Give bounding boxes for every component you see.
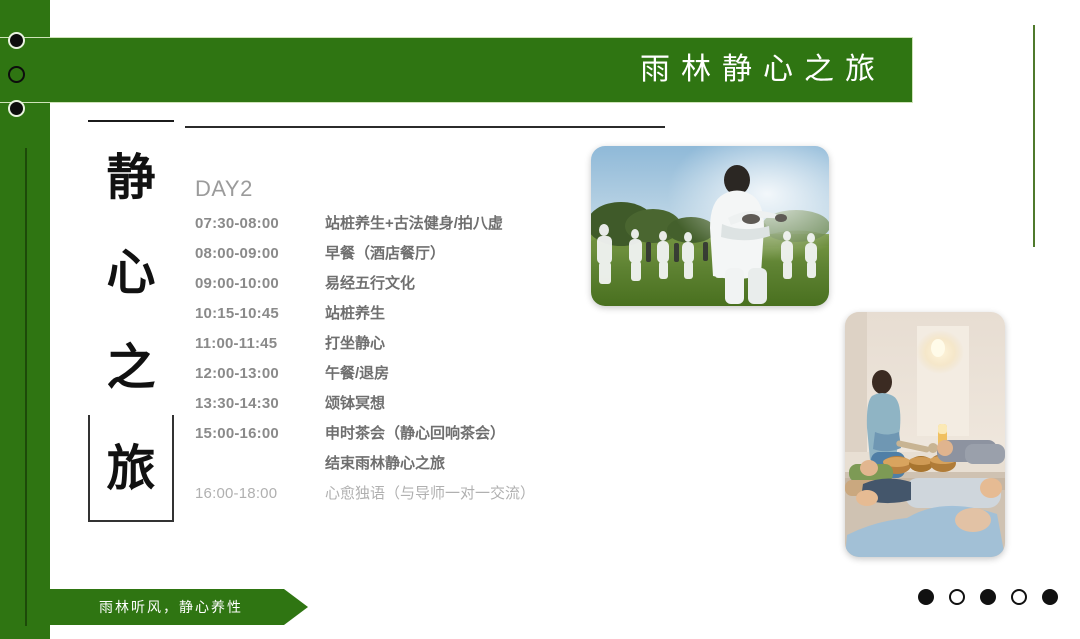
schedule-time: 11:00-11:45	[195, 335, 325, 352]
schedule-activity: 站桩养生+古法健身/拍八虚	[325, 212, 503, 233]
page-dot-1[interactable]	[918, 589, 934, 605]
page-dot-2[interactable]	[949, 589, 965, 605]
vertical-title-char-4: 旅	[88, 415, 174, 522]
schedule-row: 08:00-09:00早餐（酒店餐厅）	[195, 242, 615, 272]
vertical-title-char-3: 之	[88, 320, 174, 415]
schedule-time: 12:00-13:00	[195, 365, 325, 382]
schedule-time: 16:00-18:00	[195, 485, 325, 502]
schedule-activity: 申时茶会（静心回响茶会）	[325, 422, 505, 443]
schedule-row: 11:00-11:45打坐静心	[195, 332, 615, 362]
schedule-list: 07:30-08:00站桩养生+古法健身/拍八虚08:00-09:00早餐（酒店…	[195, 212, 615, 512]
schedule-activity: 打坐静心	[325, 332, 385, 353]
outdoor-qigong-practice-photo	[591, 146, 829, 306]
schedule-time: 13:30-14:30	[195, 395, 325, 412]
schedule-time: 10:15-10:45	[195, 305, 325, 322]
schedule-row: 结束雨林静心之旅	[195, 452, 615, 482]
sidebar-dot-2	[8, 66, 25, 83]
sidebar-inner-line	[25, 148, 27, 626]
schedule-activity: 午餐/退房	[325, 362, 389, 383]
page-dot-3[interactable]	[980, 589, 996, 605]
schedule-activity: 颂钵冥想	[325, 392, 385, 413]
schedule-row: 15:00-16:00申时茶会（静心回响茶会）	[195, 422, 615, 452]
schedule-activity: 结束雨林静心之旅	[325, 452, 445, 473]
sidebar-dot-3	[8, 100, 25, 117]
vertical-title-chars: 静 心 之 旅	[88, 130, 174, 522]
schedule-time: 15:00-16:00	[195, 425, 325, 442]
page-indicator-dots[interactable]	[918, 589, 1058, 605]
vertical-title-char-1: 静	[88, 130, 174, 225]
page-dot-5[interactable]	[1042, 589, 1058, 605]
schedule-row: 10:15-10:45站桩养生	[195, 302, 615, 332]
vertical-title-rule	[88, 120, 174, 122]
day-label: DAY2	[195, 176, 253, 202]
schedule-time: 07:30-08:00	[195, 215, 325, 232]
sound-bowl-meditation-photo	[845, 312, 1005, 557]
page-dot-4[interactable]	[1011, 589, 1027, 605]
right-accent-line	[1033, 25, 1035, 247]
schedule-time: 08:00-09:00	[195, 245, 325, 262]
vertical-title: 静 心 之 旅	[88, 120, 174, 522]
schedule-activity: 早餐（酒店餐厅）	[325, 242, 445, 263]
vertical-title-char-2: 心	[88, 225, 174, 320]
schedule-row: 12:00-13:00午餐/退房	[195, 362, 615, 392]
schedule-activity: 心愈独语（与导师一对一交流）	[325, 482, 535, 503]
schedule-time: 09:00-10:00	[195, 275, 325, 292]
sidebar-dot-1	[8, 32, 25, 49]
schedule-row: 13:30-14:30颂钵冥想	[195, 392, 615, 422]
schedule-row: 16:00-18:00心愈独语（与导师一对一交流）	[195, 482, 615, 512]
page-title: 雨林静心之旅	[640, 50, 886, 90]
schedule-row: 09:00-10:00易经五行文化	[195, 272, 615, 302]
slide-canvas: 雨林静心之旅 静 心 之 旅 DAY2 07:30-08:00站桩养生+古法健身…	[0, 0, 1080, 639]
schedule-row: 07:30-08:00站桩养生+古法健身/拍八虚	[195, 212, 615, 242]
tagline-banner: 雨林听风，静心养性	[48, 589, 308, 625]
content-top-rule	[185, 126, 665, 128]
schedule-activity: 易经五行文化	[325, 272, 415, 293]
schedule-activity: 站桩养生	[325, 302, 385, 323]
